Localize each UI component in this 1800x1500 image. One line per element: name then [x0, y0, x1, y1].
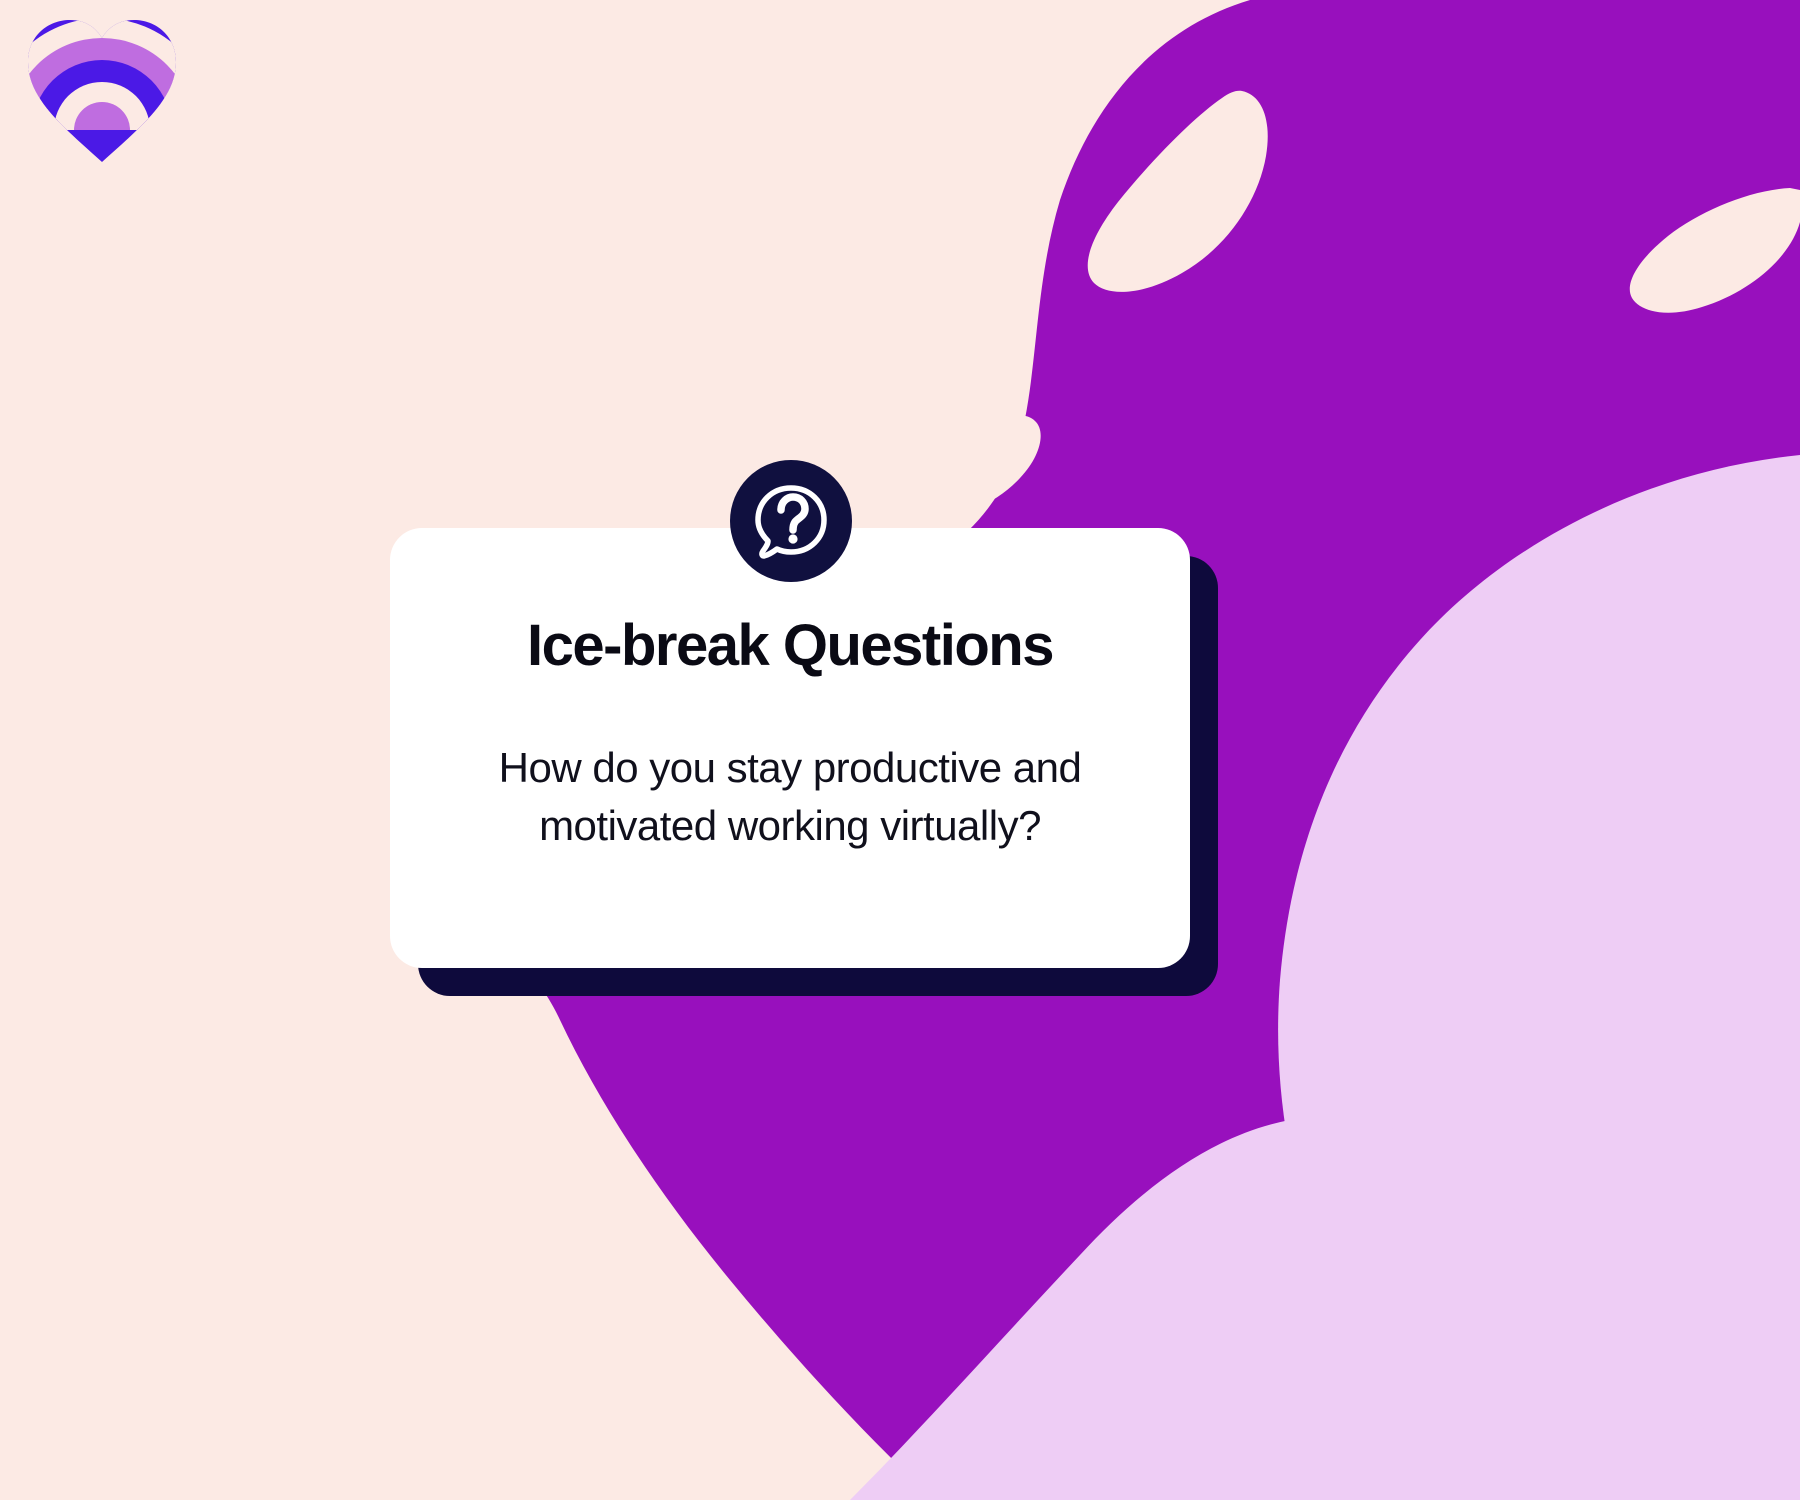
card-title: Ice-break Questions [446, 616, 1134, 677]
question-badge [730, 460, 852, 582]
question-card: Ice-break Questions How do you stay prod… [390, 528, 1190, 968]
slide-canvas: Ice-break Questions How do you stay prod… [0, 0, 1800, 1500]
card-question-text: How do you stay productive and motivated… [460, 739, 1120, 855]
heart-wifi-logo [22, 14, 182, 164]
question-speech-bubble-icon [748, 478, 834, 564]
question-card-wrapper: Ice-break Questions How do you stay prod… [390, 528, 1190, 968]
